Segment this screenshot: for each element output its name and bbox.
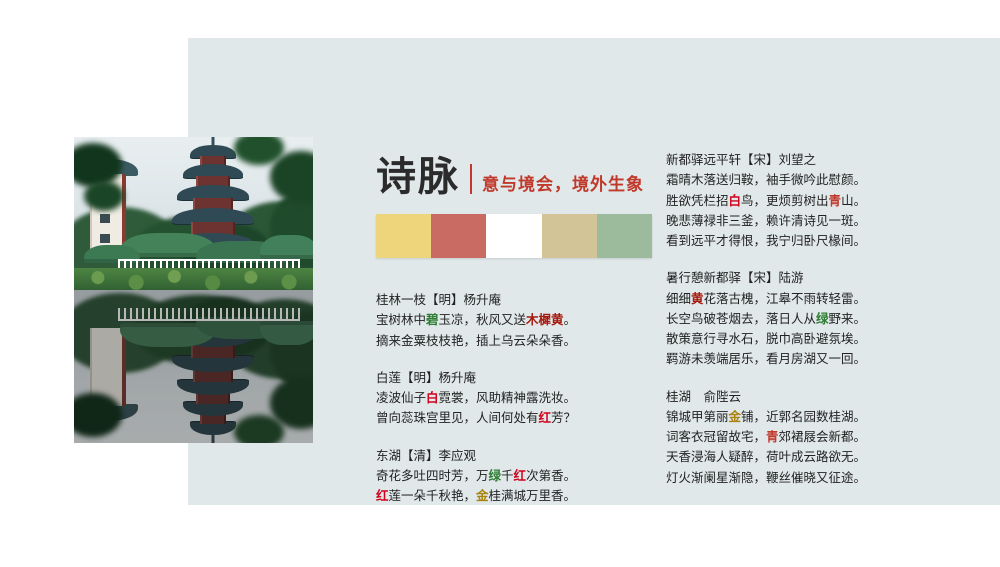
poem-columns: 桂林一枝【明】杨升庵宝树林中碧玉凉，秋风又送木樨黄。摘来金粟枝枝艳，插上乌云朵朵…	[376, 258, 976, 523]
poem-text: 摘来金粟枝枝艳，插上乌云朵朵香。	[376, 334, 576, 348]
poem-text: 晚悲薄禄非三釜，赖许清诗见一斑。	[666, 214, 866, 228]
poem-block: 白莲【明】杨升庵凌波仙子白霓裳，风助精神露洗妆。曾向蕊珠宫里见，人间何处有红芳？	[376, 368, 666, 429]
poem-highlight: 金	[729, 410, 742, 424]
poem-line: 词客衣冠留故宅，青郊裙屐会新都。	[666, 427, 966, 447]
poem-text: 花落古槐，江皋不雨转轻雷。	[704, 292, 867, 306]
color-palette	[376, 214, 652, 258]
poem-text: 灯火渐阑星渐隐，鞭丝催晓又征途。	[666, 471, 866, 485]
photo-upper-half	[74, 137, 313, 290]
pavilion-window	[100, 234, 110, 243]
poem-line: 宝树林中碧玉凉，秋风又送木樨黄。	[376, 310, 666, 330]
poem-text: 霓裳，风助精神露洗妆。	[439, 391, 577, 405]
poem-title: 白莲【明】杨升庵	[376, 368, 666, 388]
poem-highlight: 青	[829, 194, 842, 208]
poem-text: 玉凉，秋风又送	[439, 313, 527, 327]
swatch-red	[431, 214, 486, 258]
pavilion-window	[100, 214, 110, 223]
poem-text: 散策意行寻水石，脱巾高卧避氛埃。	[666, 332, 866, 346]
poem-block: 桂林一枝【明】杨升庵宝树林中碧玉凉，秋风又送木樨黄。摘来金粟枝枝艳，插上乌云朵朵…	[376, 290, 666, 351]
poem-text: 词客衣冠留故宅，	[666, 430, 766, 444]
poem-text: 看到远平才得恨，我宁归卧尺椽间。	[666, 234, 866, 248]
poem-text: 凌波仙子	[376, 391, 426, 405]
poem-highlight: 木樨黄	[526, 313, 564, 327]
content-area: 诗脉 意与境会，境外生象 桂林一枝【明】杨升庵宝树林中碧玉凉，秋风又送木樨黄。摘…	[376, 145, 976, 523]
poem-line: 散策意行寻水石，脱巾高卧避氛埃。	[666, 329, 966, 349]
poem-highlight: 青	[766, 430, 779, 444]
poem-highlight: 红	[539, 411, 552, 425]
poem-text: 霜晴木落送归鞍，袖手微吟此慰颜。	[666, 173, 866, 187]
page-subtitle: 意与境会，境外生象	[482, 176, 644, 193]
poem-title: 暑行憩新都驿【宋】陆游	[666, 268, 966, 288]
poem-line: 红莲一朵千秋艳，金桂满城万里香。	[376, 486, 666, 506]
poem-text: 细细	[666, 292, 691, 306]
foreground-foliage	[84, 181, 124, 211]
poem-line: 摘来金粟枝枝艳，插上乌云朵朵香。	[376, 331, 666, 351]
photo-scene	[74, 137, 313, 290]
foreground-foliage	[234, 415, 284, 443]
poem-line: 凌波仙子白霓裳，风助精神露洗妆。	[376, 388, 666, 408]
poem-line: 灯火渐阑星渐隐，鞭丝催晓又征途。	[666, 468, 966, 488]
poem-highlight: 红	[376, 489, 389, 503]
poem-block: 新都驿远平轩【宋】刘望之霜晴木落送归鞍，袖手微吟此慰颜。胜欲凭栏招白鸟，更烦剪树…	[666, 150, 966, 251]
poem-text: 野来。	[829, 312, 867, 326]
poem-column-right: 新都驿远平轩【宋】刘望之霜晴木落送归鞍，袖手微吟此慰颜。胜欲凭栏招白鸟，更烦剪树…	[666, 150, 966, 523]
poem-line: 胜欲凭栏招白鸟，更烦剪树出青山。	[666, 191, 966, 211]
lotus-pond	[74, 268, 313, 290]
poem-highlight: 黄	[691, 292, 704, 306]
hall-roof	[260, 235, 313, 259]
poem-text: 胜欲凭栏招	[666, 194, 729, 208]
poem-line: 奇花多吐四时芳，万绿千红次第香。	[376, 466, 666, 486]
poem-title: 新都驿远平轩【宋】刘望之	[666, 150, 966, 170]
poem-text: 曾向蕊珠宫里见，人间何处有	[376, 411, 539, 425]
poem-text: 铺，近郭名园数桂湖。	[741, 410, 866, 424]
poem-text: 天香浸海人疑醉，荷叶成云路欲无。	[666, 450, 866, 464]
poem-line: 长空鸟破苍烟去，落日人从绿野来。	[666, 309, 966, 329]
poem-text: 长空鸟破苍烟去，落日人从	[666, 312, 816, 326]
poem-line: 锦城甲第丽金铺，近郭名园数桂湖。	[666, 407, 966, 427]
swatch-white	[486, 214, 541, 258]
poem-line: 霜晴木落送归鞍，袖手微吟此慰颜。	[666, 170, 966, 190]
pagoda-roof-tier	[183, 402, 243, 416]
poem-text: 芳？	[551, 411, 576, 425]
poem-text: 。	[564, 313, 577, 327]
swatch-yellow	[376, 214, 431, 258]
poem-highlight: 绿	[816, 312, 829, 326]
poem-text: 桂满城万里香。	[489, 489, 577, 503]
poem-line: 细细黄花落古槐，江皋不雨转轻雷。	[666, 289, 966, 309]
poem-highlight: 碧	[426, 313, 439, 327]
poem-line: 看到远平才得恨，我宁归卧尺椽间。	[666, 231, 966, 251]
pagoda-roof-tier	[172, 356, 254, 372]
poem-text: 羁游未羡端居乐，看月房湖又一回。	[666, 352, 866, 366]
poem-highlight: 白	[729, 194, 742, 208]
poem-column-left: 桂林一枝【明】杨升庵宝树林中碧玉凉，秋风又送木樨黄。摘来金粟枝枝艳，插上乌云朵朵…	[376, 290, 666, 523]
reflection-scene	[74, 290, 313, 443]
poem-text: 郊裙屐会新都。	[779, 430, 867, 444]
poem-text: 奇花多吐四时芳，万	[376, 469, 489, 483]
poem-highlight: 白	[426, 391, 439, 405]
poem-text: 锦城甲第丽	[666, 410, 729, 424]
poem-block: 桂湖 俞陛云锦城甲第丽金铺，近郭名园数桂湖。词客衣冠留故宅，青郊裙屐会新都。天香…	[666, 387, 966, 488]
poem-text: 山。	[841, 194, 866, 208]
poem-line: 曾向蕊珠宫里见，人间何处有红芳？	[376, 408, 666, 428]
poem-line: 晚悲薄禄非三釜，赖许清诗见一斑。	[666, 211, 966, 231]
white-railing	[118, 308, 300, 321]
poem-line: 天香浸海人疑醉，荷叶成云路欲无。	[666, 447, 966, 467]
poem-text: 宝树林中	[376, 313, 426, 327]
poem-highlight: 绿	[489, 469, 502, 483]
poem-highlight: 红	[514, 469, 527, 483]
poem-title: 东湖【清】李应观	[376, 446, 666, 466]
poem-line: 羁游未羡端居乐，看月房湖又一回。	[666, 349, 966, 369]
poem-text: 次第香。	[526, 469, 576, 483]
pagoda-photo	[74, 137, 313, 443]
pagoda-roof-tier	[177, 380, 249, 395]
poem-title: 桂湖 俞陛云	[666, 387, 966, 407]
swatch-green	[597, 214, 652, 258]
page-title: 诗脉	[376, 157, 460, 197]
poem-block: 东湖【清】李应观奇花多吐四时芳，万绿千红次第香。红莲一朵千秋艳，金桂满城万里香。	[376, 446, 666, 507]
poem-text: 鸟，更烦剪树出	[741, 194, 829, 208]
poem-highlight: 金	[476, 489, 489, 503]
title-divider	[470, 164, 472, 194]
swatch-tan	[542, 214, 597, 258]
poem-block: 暑行憩新都驿【宋】陆游细细黄花落古槐，江皋不雨转轻雷。长空鸟破苍烟去，落日人从绿…	[666, 268, 966, 369]
photo-water-reflection	[74, 290, 313, 443]
hall-roof	[260, 321, 313, 345]
poem-text: 莲一朵千秋艳，	[389, 489, 477, 503]
poem-title: 桂林一枝【明】杨升庵	[376, 290, 666, 310]
poem-text: 千	[501, 469, 514, 483]
